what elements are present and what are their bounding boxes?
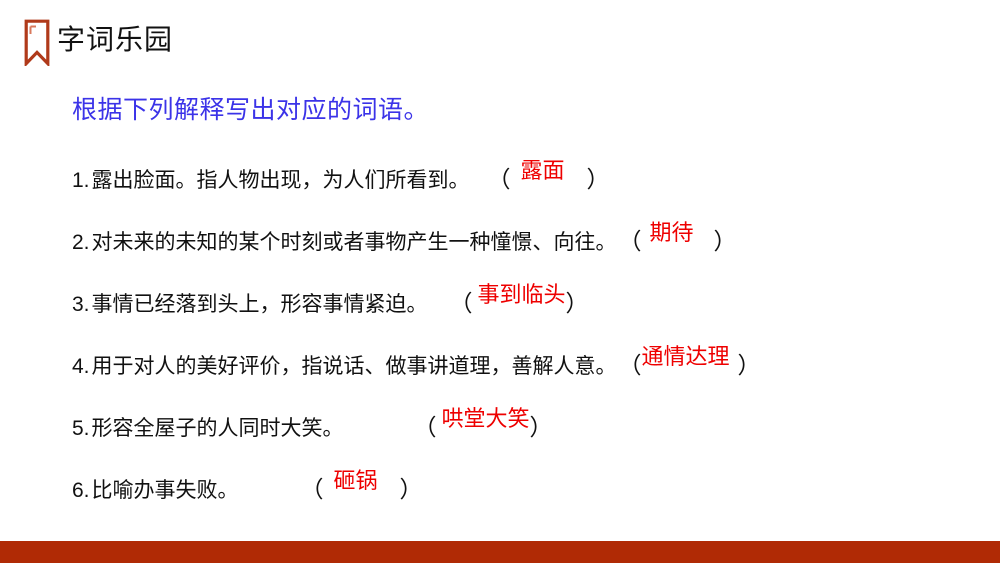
answer-blank[interactable]: （哄堂大笑） [414,408,553,442]
instruction-text: 根据下列解释写出对应的词语。 [72,93,429,127]
close-paren: ） [714,222,737,256]
question-row: 2.对未来的未知的某个时刻或者事物产生一种憧憬、向往。（期待） [72,222,972,284]
question-prompt: 露出脸面。指人物出现，为人们所看到。 [92,164,470,194]
page-title: 字词乐园 [57,22,173,58]
open-paren: （ [301,470,324,504]
answer-text: 砸锅 [324,463,400,495]
question-number: 3. [72,293,90,317]
answer-text: 露面 [511,153,587,185]
question-prompt: 用于对人的美好评价，指说话、做事讲道理，善解人意。 [92,350,617,380]
answer-blank[interactable]: （期待） [619,222,737,256]
question-prompt: 形容全屋子的人同时大笑。 [92,412,344,442]
close-paren: ） [738,346,761,380]
question-number: 6. [72,479,90,503]
question-row: 3.事情已经落到头上，形容事情紧迫。（事到临头） [72,284,972,346]
question-row: 4.用于对人的美好评价，指说话、做事讲道理，善解人意。（通情达理） [72,346,972,408]
close-paren: ） [566,284,589,318]
answer-blank[interactable]: （露面） [488,160,610,194]
question-number: 2. [72,231,90,255]
question-prompt: 对未来的未知的某个时刻或者事物产生一种憧憬、向往。 [92,226,617,256]
bottom-accent-bar [0,541,1000,563]
close-paren: ） [530,408,553,442]
question-list: 1.露出脸面。指人物出现，为人们所看到。（露面）2.对未来的未知的某个时刻或者事… [72,160,972,532]
question-number: 1. [72,169,90,193]
question-number: 4. [72,355,90,379]
open-paren: （ [619,346,642,380]
question-number: 5. [72,417,90,441]
question-prompt: 比喻办事失败。 [92,474,239,504]
answer-text: 期待 [642,215,714,247]
answer-blank[interactable]: （通情达理） [619,346,761,380]
answer-text: 事到临头 [473,277,566,309]
slide-header: 字词乐园 [0,0,1000,72]
question-row: 6.比喻办事失败。（砸锅） [72,470,972,532]
bookmark-ribbon-icon [24,19,50,66]
slide-canvas: 字词乐园 根据下列解释写出对应的词语。 1.露出脸面。指人物出现，为人们所看到。… [0,0,1000,563]
question-prompt: 事情已经落到头上，形容事情紧迫。 [92,288,428,318]
answer-blank[interactable]: （砸锅） [301,470,423,504]
answer-blank[interactable]: （事到临头） [450,284,589,318]
close-paren: ） [587,160,610,194]
open-paren: （ [619,222,642,256]
open-paren: （ [488,160,511,194]
question-row: 1.露出脸面。指人物出现，为人们所看到。（露面） [72,160,972,222]
question-row: 5.形容全屋子的人同时大笑。（哄堂大笑） [72,408,972,470]
open-paren: （ [414,408,437,442]
open-paren: （ [450,284,473,318]
close-paren: ） [400,470,423,504]
answer-text: 通情达理 [642,339,738,371]
answer-text: 哄堂大笑 [437,401,530,433]
